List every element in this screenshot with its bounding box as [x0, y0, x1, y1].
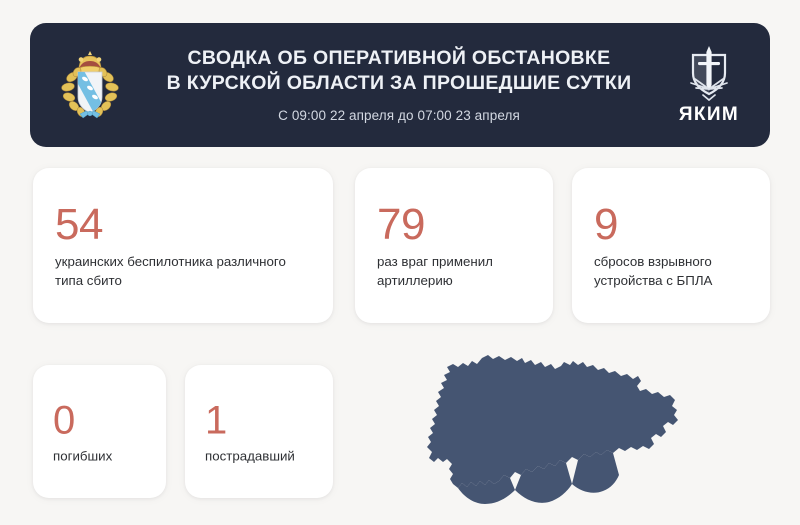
header-period-subtitle: С 09:00 22 апреля до 07:00 23 апреля — [278, 108, 520, 123]
header-title-line-1: СВОДКА ОБ ОПЕРАТИВНОЙ ОБСТАНОВКЕ — [188, 46, 611, 71]
coat-of-arms-icon — [30, 47, 150, 123]
stat-card-injured: 1 пострадавший — [185, 365, 333, 498]
stat-card-killed: 0 погибших — [33, 365, 166, 498]
infographic-page: СВОДКА ОБ ОПЕРАТИВНОЙ ОБСТАНОВКЕ В КУРСК… — [0, 0, 800, 525]
header-text-block: СВОДКА ОБ ОПЕРАТИВНОЙ ОБСТАНОВКЕ В КУРСК… — [150, 46, 648, 125]
header-banner: СВОДКА ОБ ОПЕРАТИВНОЙ ОБСТАНОВКЕ В КУРСК… — [30, 23, 770, 147]
stat-value-artillery: 79 — [377, 202, 531, 248]
header-title-line-2: В КУРСКОЙ ОБЛАСТИ ЗА ПРОШЕДШИЕ СУТКИ — [167, 71, 632, 96]
kursk-oblast-map — [425, 352, 770, 512]
stat-value-injured: 1 — [205, 398, 313, 442]
shield-with-sword-icon — [683, 45, 735, 101]
stat-label-artillery: раз враг применил артиллерию — [377, 252, 531, 290]
stat-card-artillery: 79 раз враг применил артиллерию — [355, 168, 553, 323]
stat-value-drones: 54 — [55, 202, 311, 248]
stat-card-drops: 9 сбросов взрывного устройства с БПЛА — [572, 168, 770, 323]
stat-value-killed: 0 — [53, 398, 146, 442]
stat-value-drops: 9 — [594, 202, 748, 248]
stat-card-drones: 54 украинских беспилотника различного ти… — [33, 168, 333, 323]
stat-label-drops: сбросов взрывного устройства с БПЛА — [594, 252, 748, 290]
stat-label-drones: украинских беспилотника различного типа … — [55, 252, 311, 290]
brand-logo: ЯКИМ — [648, 45, 770, 126]
brand-logo-word: ЯКИМ — [679, 104, 739, 126]
stat-label-injured: пострадавший — [205, 446, 313, 465]
stat-label-killed: погибших — [53, 446, 146, 465]
